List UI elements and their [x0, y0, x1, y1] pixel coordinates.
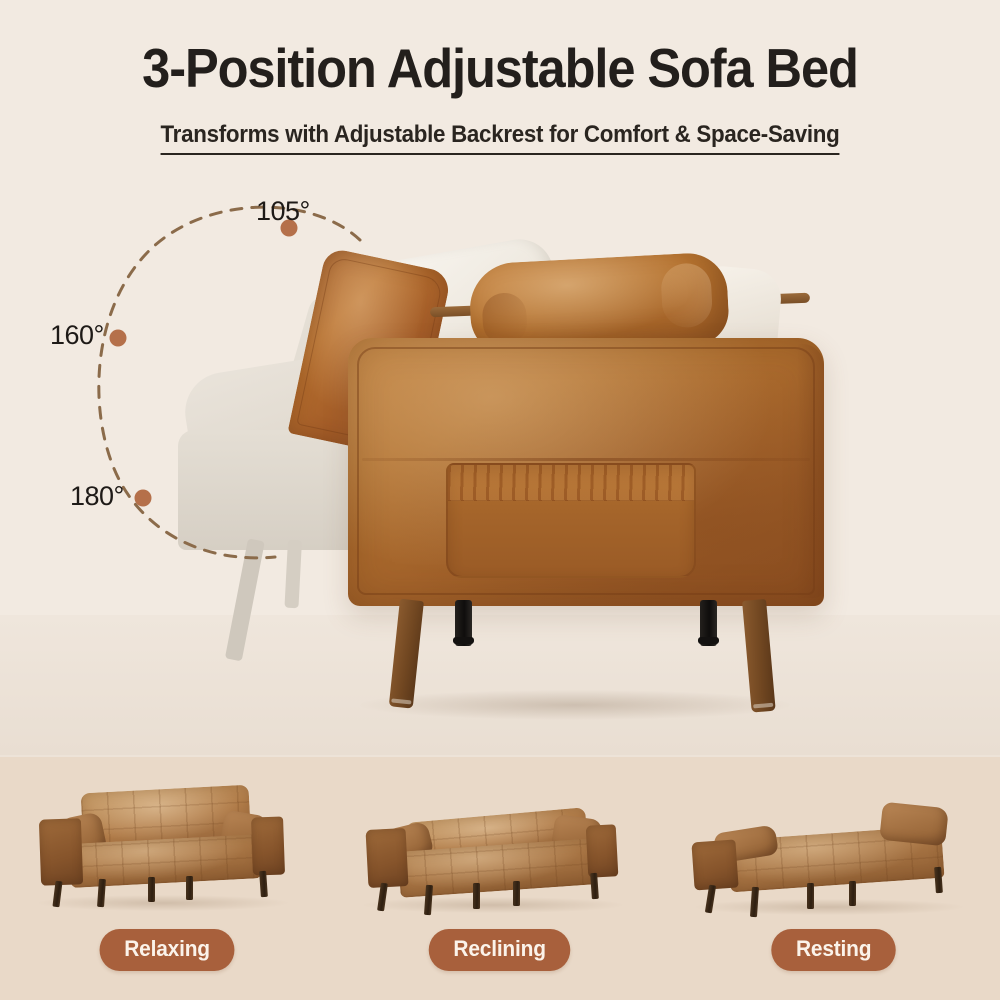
badge-resting[interactable]: Resting: [771, 929, 896, 971]
mini-leg: [473, 883, 480, 909]
bolster-fold-right: [660, 262, 713, 329]
thumbnail-relaxing: [0, 767, 333, 922]
mini-leg: [148, 877, 155, 902]
angle-dot-160: [110, 330, 127, 347]
badge-cell-relaxing: Relaxing: [0, 925, 333, 975]
page-title: 3-Position Adjustable Sofa Bed: [40, 38, 960, 98]
mini-seat: [69, 834, 261, 888]
mini-leg: [849, 881, 856, 906]
position-badge-row: Relaxing Reclining Resting: [0, 925, 1000, 975]
mini-pillow-right: [879, 802, 949, 847]
mini-leg: [186, 876, 193, 900]
mini-arm-right: [251, 816, 285, 875]
side-pocket-ruching: [448, 465, 694, 501]
thumbnail-reclining: [333, 767, 666, 922]
thumbnail-resting: [667, 767, 1000, 922]
positions-panel: Relaxing Reclining Resting: [0, 755, 1000, 1000]
angle-label-180: 180°: [70, 481, 124, 512]
mini-shadow: [363, 897, 623, 913]
armrest-seam: [362, 458, 810, 461]
badge-cell-reclining: Reclining: [333, 925, 666, 975]
mini-shadow: [38, 895, 288, 911]
mini-leg: [513, 881, 520, 906]
mini-arm-left: [691, 840, 738, 891]
angle-label-160: 160°: [50, 320, 104, 351]
mini-arm-right: [586, 824, 619, 877]
badge-relaxing[interactable]: Relaxing: [99, 929, 234, 971]
mini-leg: [934, 867, 943, 893]
mini-shadow: [695, 899, 963, 915]
angle-dot-180: [135, 490, 152, 507]
hero-floor: [0, 615, 1000, 755]
sofa-armrest-panel: [348, 338, 824, 606]
mini-arm-left: [39, 818, 83, 885]
badge-reclining[interactable]: Reclining: [429, 929, 571, 971]
angle-label-105: 105°: [256, 196, 310, 227]
hero-panel: 3-Position Adjustable Sofa Bed Transform…: [0, 0, 1000, 755]
infographic-page: 3-Position Adjustable Sofa Bed Transform…: [0, 0, 1000, 1000]
sofa-floor-shadow: [360, 690, 790, 720]
mini-leg: [807, 883, 814, 909]
armrest-right-edge: [798, 344, 824, 598]
sofa-leg-black-right: [700, 600, 717, 646]
sofa-side-pocket: [446, 463, 696, 578]
sofa-leg-black-left: [455, 600, 472, 646]
mini-arm-left: [366, 828, 409, 888]
badge-cell-resting: Resting: [667, 925, 1000, 975]
page-subtitle: Transforms with Adjustable Backrest for …: [161, 120, 840, 155]
page-subtitle-wrap: Transforms with Adjustable Backrest for …: [0, 120, 1000, 155]
